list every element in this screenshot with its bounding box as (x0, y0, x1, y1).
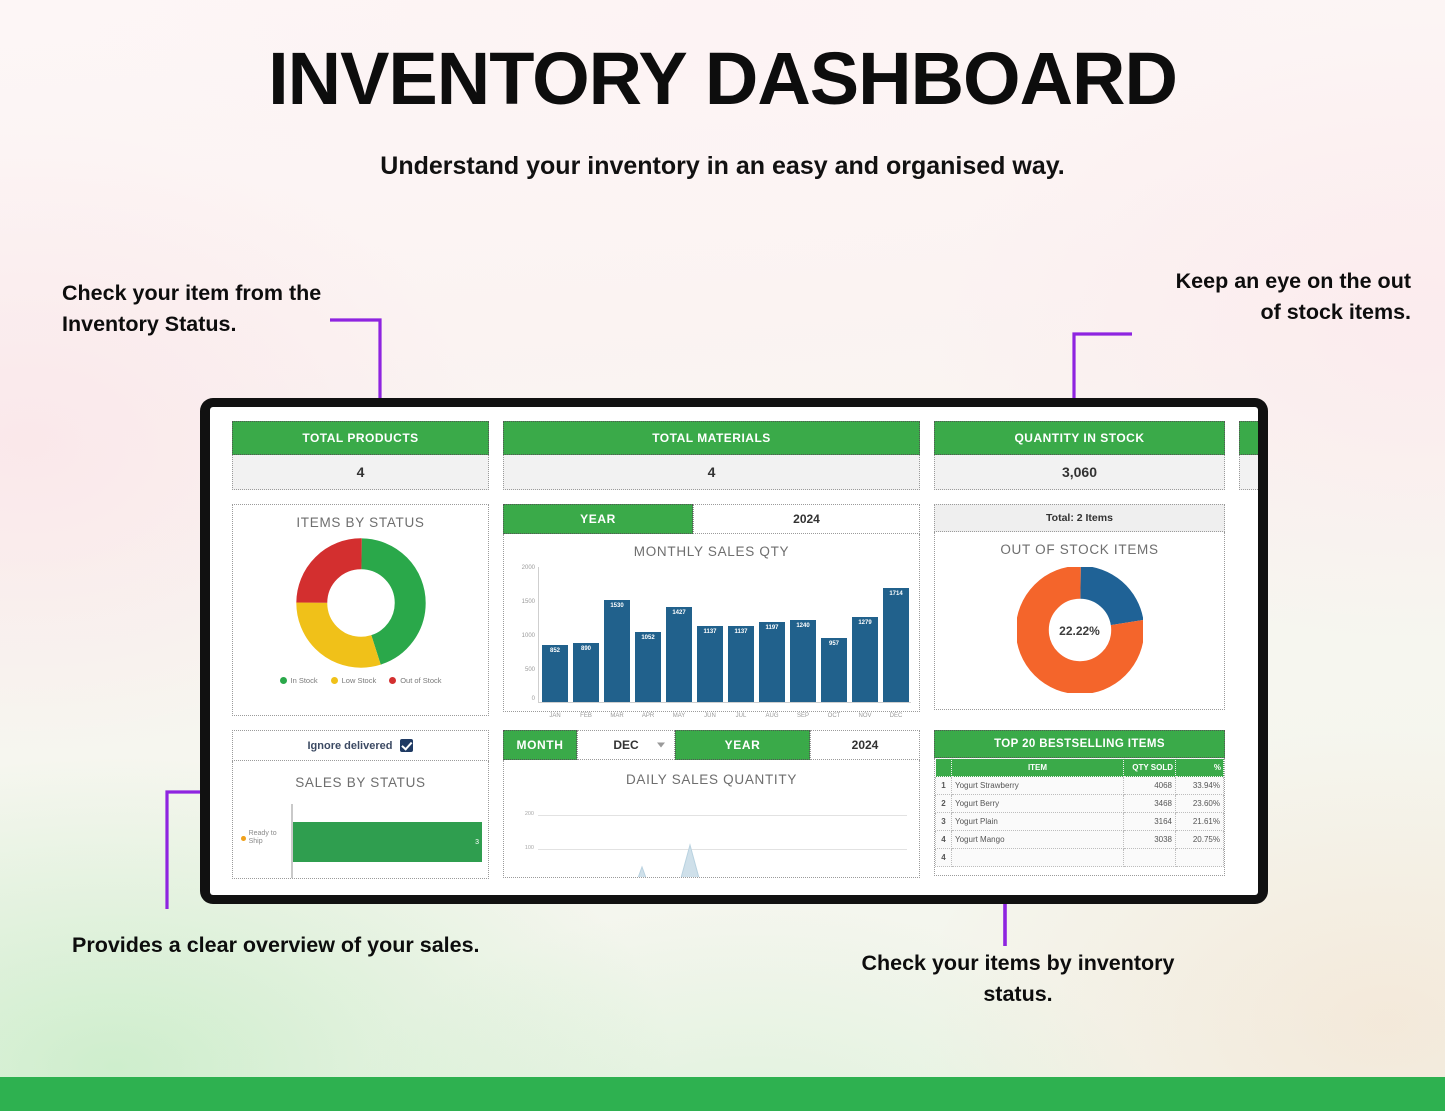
dashboard-screen: TOTAL PRODUCTS 4 TOTAL MATERIALS 4 QUANT… (210, 407, 1258, 895)
bar-value-label: 890 (581, 646, 591, 652)
callout-top-left: Check your item from the Inventory Statu… (62, 278, 332, 340)
bar: 1714 (883, 588, 909, 702)
kpi-row: TOTAL PRODUCTS 4 TOTAL MATERIALS 4 QUANT… (232, 421, 1236, 490)
bar: 1530 (604, 600, 630, 702)
table-cell: 3 (936, 813, 952, 831)
monthly-sales-title: MONTHLY SALES QTY (504, 534, 919, 561)
ignore-delivered-checkbox[interactable] (400, 739, 413, 752)
bar-value-label: 1714 (889, 591, 902, 597)
kpi-label: TOTAL MATERIALS (503, 421, 920, 455)
bar-value-label: 1052 (641, 635, 654, 641)
kpi-label: QUANTITY IN STOCK (934, 421, 1225, 455)
footer-bar (0, 1077, 1445, 1111)
table-cell: Yogurt Mango (952, 831, 1124, 849)
daily-sales-title: DAILY SALES QUANTITY (504, 760, 919, 789)
bestselling-table: ITEM QTY SOLD % 1Yogurt Strawberry406833… (935, 758, 1224, 867)
bar-value-label: 1530 (610, 603, 623, 609)
out-of-stock-center-pct: 22.22% (1059, 624, 1100, 638)
bar: 1137 (697, 626, 723, 702)
legend-label: Out of Stock (400, 676, 441, 685)
year-selector-row: YEAR 2024 (503, 504, 920, 534)
bar-value-label: 957 (829, 641, 839, 647)
y-tick: 2000 (508, 565, 535, 571)
x-tick-label: MAR (604, 713, 630, 719)
out-of-stock-total: Total: 2 Items (934, 504, 1225, 532)
hbar-ready-to-ship: 3 (293, 822, 482, 862)
x-tick-label: FEB (573, 713, 599, 719)
callout-top-right: Keep an eye on the out of stock items. (1161, 266, 1411, 328)
table-row[interactable]: 2Yogurt Berry346823.60% (936, 795, 1224, 813)
status-dot-icon (241, 836, 246, 841)
daily-sales-chart: 200 100 (510, 793, 911, 878)
col-qty-sold: QTY SOLD (1124, 759, 1176, 777)
bar-column: 1240 (790, 569, 816, 702)
bar-column: 852 (542, 569, 568, 702)
table-row[interactable]: 3Yogurt Plain316421.61% (936, 813, 1224, 831)
bar-value-label: 1137 (703, 629, 716, 635)
x-tick-label: MAY (666, 713, 692, 719)
x-tick-label: DEC (883, 713, 909, 719)
panel-out-of-stock: Total: 2 Items OUT OF STOCK ITEMS 22.22% (934, 504, 1225, 716)
year-value[interactable]: 2024 (810, 730, 920, 760)
dashboard-frame: TOTAL PRODUCTS 4 TOTAL MATERIALS 4 QUANT… (200, 398, 1268, 904)
kpi-value: 4 (232, 455, 489, 490)
y-axis-line (538, 567, 539, 703)
bar-column: 1530 (604, 569, 630, 702)
bottom-row: Ignore delivered SALES BY STATUS Ready t… (232, 730, 1236, 879)
kpi-value: 3,060 (934, 455, 1225, 490)
y-tick: 500 (508, 667, 535, 673)
col-pct: % (1176, 759, 1224, 777)
table-header-row: ITEM QTY SOLD % (936, 759, 1224, 777)
bestselling-table-area: ITEM QTY SOLD % 1Yogurt Strawberry406833… (934, 758, 1225, 876)
callout-bottom-left: Provides a clear overview of your sales. (72, 930, 552, 961)
bar-value-label: 1137 (734, 629, 747, 635)
table-cell: 1 (936, 777, 952, 795)
table-cell (1124, 849, 1176, 867)
hbar-label-text: Ready to Ship (249, 830, 289, 846)
bar: 957 (821, 638, 847, 702)
bar-value-label: 1240 (796, 623, 809, 629)
page-subtitle: Understand your inventory in an easy and… (0, 152, 1445, 181)
daily-sales-chart-area: DAILY SALES QUANTITY 200 100 (503, 760, 920, 878)
y-tick: 0 (508, 696, 535, 702)
kpi-card-quantity-sold: QUANTITY SOLD 14,638 (1239, 421, 1258, 490)
bar-column: 1279 (852, 569, 878, 702)
panel-items-by-status: ITEMS BY STATUS In Stock Low (232, 504, 489, 716)
legend-item: Out of Stock (389, 676, 441, 685)
bar: 1279 (852, 617, 878, 702)
hbar-value: 3 (475, 839, 482, 846)
table-row[interactable]: 4Yogurt Mango303820.75% (936, 831, 1224, 849)
bestselling-title: TOP 20 BESTSELLING ITEMS (934, 730, 1225, 758)
bar: 852 (542, 645, 568, 702)
table-row[interactable]: 1Yogurt Strawberry406833.94% (936, 777, 1224, 795)
sales-by-status-chart: Ready to Ship 3 (233, 792, 488, 878)
table-cell: 4068 (1124, 777, 1176, 795)
x-axis-labels: JANFEBMARAPRMAYJUNJULAUGSEPOCTNOVDEC (542, 713, 909, 719)
out-of-stock-chart-area: OUT OF STOCK ITEMS 22.22% (934, 532, 1225, 710)
month-value-text: DEC (613, 738, 638, 752)
x-tick-label: OCT (821, 713, 847, 719)
bar-value-label: 1427 (672, 610, 685, 616)
x-tick-label: JUN (697, 713, 723, 719)
table-cell: Yogurt Plain (952, 813, 1124, 831)
bar-column: 890 (573, 569, 599, 702)
col-item: ITEM (952, 759, 1124, 777)
y-tick: 1500 (508, 599, 535, 605)
panel-monthly-sales: YEAR 2024 MONTHLY SALES QTY 2000 1500 10… (503, 504, 920, 716)
bar: 890 (573, 643, 599, 702)
x-tick-label: JUL (728, 713, 754, 719)
table-cell: 33.94% (1176, 777, 1224, 795)
out-of-stock-title: OUT OF STOCK ITEMS (935, 532, 1224, 559)
table-cell: Yogurt Berry (952, 795, 1124, 813)
year-label: YEAR (675, 730, 810, 760)
month-value[interactable]: DEC (577, 730, 675, 760)
y-tick: 200 (510, 811, 534, 817)
month-label: MONTH (503, 730, 577, 760)
page-title: INVENTORY DASHBOARD (0, 36, 1445, 121)
monthly-sales-chart-area: MONTHLY SALES QTY 2000 1500 1000 500 0 8… (503, 534, 920, 712)
table-cell: 4 (936, 831, 952, 849)
legend-label: In Stock (291, 676, 318, 685)
table-cell: 23.60% (1176, 795, 1224, 813)
bar-group: 8528901530105214271137113711971240957127… (542, 569, 909, 702)
legend-dot-in-stock (280, 677, 287, 684)
legend-item: Low Stock (331, 676, 377, 685)
year-value[interactable]: 2024 (693, 504, 920, 534)
kpi-card-quantity-in-stock: QUANTITY IN STOCK 3,060 (934, 421, 1225, 490)
bar: 1240 (790, 620, 816, 702)
x-tick-label: NOV (852, 713, 878, 719)
table-cell: 2 (936, 795, 952, 813)
kpi-value: 4 (503, 455, 920, 490)
kpi-label: QUANTITY SOLD (1239, 421, 1258, 455)
legend-dot-out-of-stock (389, 677, 396, 684)
table-cell: Yogurt Strawberry (952, 777, 1124, 795)
out-of-stock-chart: 22.22% (935, 559, 1224, 695)
bar-value-label: 1279 (858, 620, 871, 626)
items-by-status-title: ITEMS BY STATUS (233, 505, 488, 532)
items-by-status-legend: In Stock Low Stock Out of Stock (233, 670, 488, 695)
kpi-value: 14,638 (1239, 455, 1258, 490)
x-tick-label: SEP (790, 713, 816, 719)
y-tick: 100 (510, 845, 534, 851)
panel-sales-by-status: Ignore delivered SALES BY STATUS Ready t… (232, 730, 489, 879)
bar-value-label: 1197 (765, 625, 778, 631)
x-tick-label: APR (635, 713, 661, 719)
kpi-label: TOTAL PRODUCTS (232, 421, 489, 455)
bar: 1052 (635, 632, 661, 702)
x-tick-label: JAN (542, 713, 568, 719)
month-year-selector-row: MONTH DEC YEAR 2024 (503, 730, 920, 760)
kpi-card-total-materials: TOTAL MATERIALS 4 (503, 421, 920, 490)
bar-column: 1197 (759, 569, 785, 702)
bar-column: 1137 (728, 569, 754, 702)
middle-row: ITEMS BY STATUS In Stock Low (232, 504, 1236, 716)
table-cell (952, 849, 1124, 867)
legend-label: Low Stock (342, 676, 377, 685)
bar-column: 1052 (635, 569, 661, 702)
items-by-status-donut-icon (296, 538, 426, 668)
kpi-card-total-products: TOTAL PRODUCTS 4 (232, 421, 489, 490)
legend-item: In Stock (280, 676, 318, 685)
table-cell: 3164 (1124, 813, 1176, 831)
bar-column: 1427 (666, 569, 692, 702)
sales-by-status-chart-area: SALES BY STATUS Ready to Ship 3 (232, 761, 489, 879)
callout-bottom-right: Check your items by inventory status. (858, 948, 1178, 1010)
table-cell: 3038 (1124, 831, 1176, 849)
daily-sales-area-path (538, 793, 908, 878)
ignore-delivered-label: Ignore delivered (308, 740, 393, 752)
bar: 1427 (666, 607, 692, 702)
x-tick-label: AUG (759, 713, 785, 719)
bar-column: 1714 (883, 569, 909, 702)
bar: 1137 (728, 626, 754, 702)
y-tick: 1000 (508, 633, 535, 639)
col-index (936, 759, 952, 777)
table-cell: 20.75% (1176, 831, 1224, 849)
table-row[interactable]: 4 (936, 849, 1224, 867)
bar-column: 1137 (697, 569, 723, 702)
ignore-delivered-row[interactable]: Ignore delivered (232, 730, 489, 761)
table-cell: 4 (936, 849, 952, 867)
panel-bestselling: TOP 20 BESTSELLING ITEMS ITEM QTY SOLD %… (934, 730, 1225, 879)
monthly-sales-barchart: 2000 1500 1000 500 0 8528901530105214271… (508, 563, 913, 721)
hbar-category-label: Ready to Ship (241, 830, 289, 846)
bar-value-label: 852 (550, 648, 560, 654)
table-cell: 3468 (1124, 795, 1176, 813)
year-label: YEAR (503, 504, 693, 534)
table-cell: 21.61% (1176, 813, 1224, 831)
panel-daily-sales: MONTH DEC YEAR 2024 DAILY SALES QUANTITY… (503, 730, 920, 879)
legend-dot-low-stock (331, 677, 338, 684)
sales-by-status-title: SALES BY STATUS (233, 761, 488, 792)
chevron-down-icon[interactable] (657, 743, 665, 748)
bar-column: 957 (821, 569, 847, 702)
table-cell (1176, 849, 1224, 867)
bar: 1197 (759, 622, 785, 702)
items-by-status-chart (233, 532, 488, 670)
